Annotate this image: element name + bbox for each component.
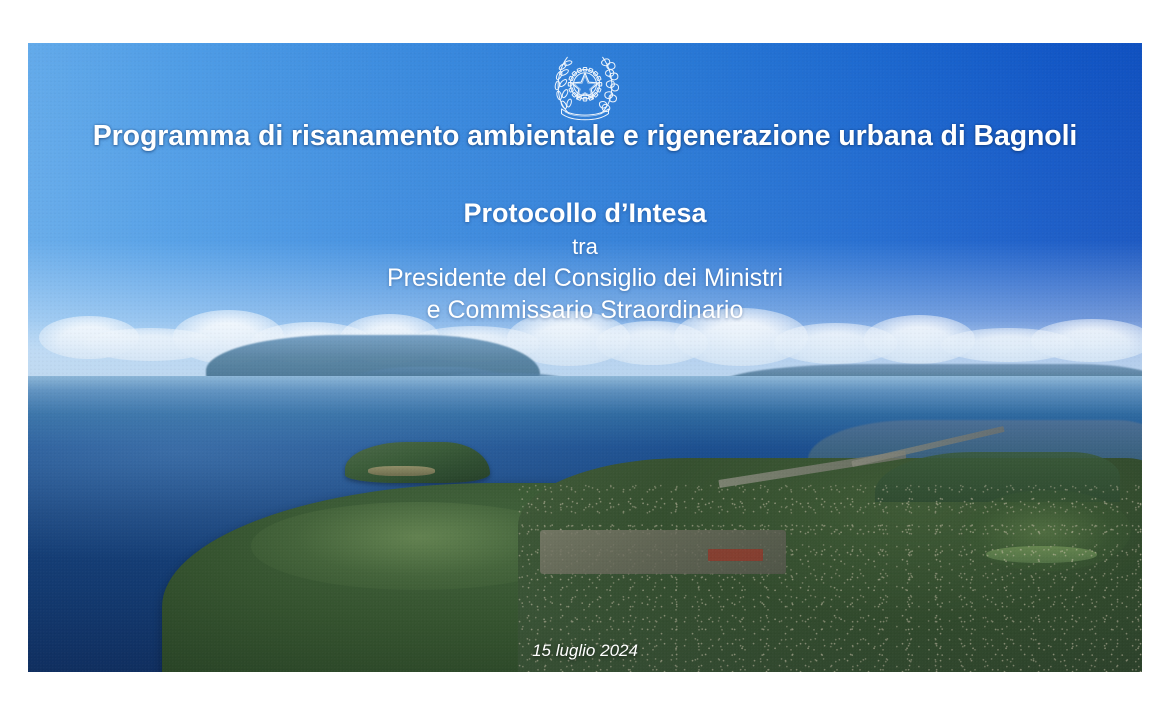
date-label: 15 luglio 2024 (28, 641, 1142, 661)
red-roof-building (708, 549, 764, 560)
page-title: Programma di risanamento ambientale e ri… (28, 120, 1142, 153)
islet-nisida (345, 442, 490, 483)
party-commissario-straordinario: e Commissario Straordinario (28, 295, 1142, 327)
title-slide: Programma di risanamento ambientale e ri… (28, 43, 1142, 672)
protocol-title: Protocollo d’Intesa (28, 198, 1142, 228)
italian-republic-emblem-icon (549, 49, 621, 123)
party-presidente-consiglio: Presidente del Consiglio dei Ministri (28, 263, 1142, 295)
nisida-cliff (368, 466, 435, 476)
between-label: tra (28, 231, 1142, 263)
slide-page: Programma di risanamento ambientale e ri… (0, 0, 1170, 710)
subtitle-group: Protocollo d’Intesa tra Presidente del C… (28, 198, 1142, 326)
